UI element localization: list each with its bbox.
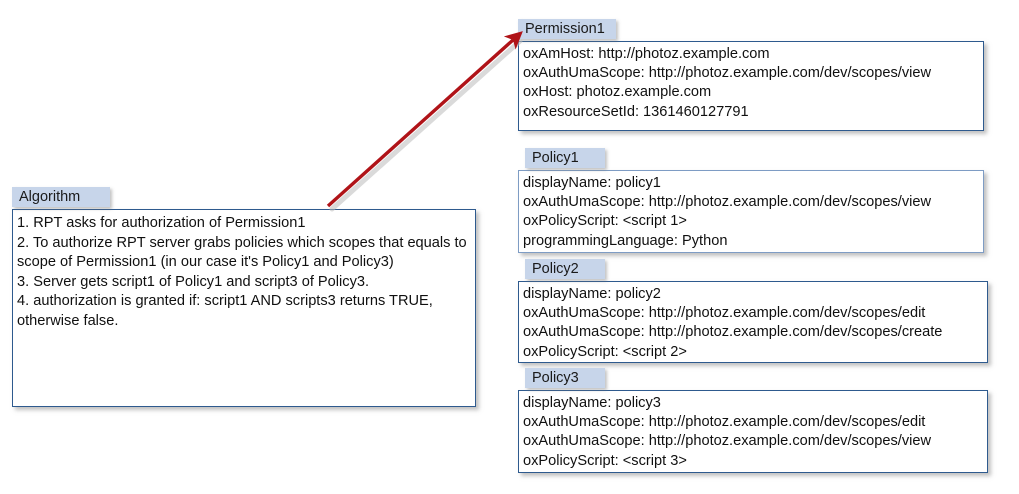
permission1-line: oxAmHost: http://photoz.example.com (523, 45, 983, 64)
policy3-line: displayName: policy3 (523, 394, 987, 413)
algorithm-body: 1. RPT asks for authorization of Permiss… (12, 209, 476, 407)
permission-arrow (328, 40, 513, 206)
permission-arrow-shadow (332, 41, 520, 209)
policy2-lines: displayName: policy2 oxAuthUmaScope: htt… (519, 282, 987, 362)
policy2-body: displayName: policy2 oxAuthUmaScope: htt… (518, 281, 988, 363)
policy3-body: displayName: policy3 oxAuthUmaScope: htt… (518, 390, 988, 473)
policy1-line: oxAuthUmaScope: http://photoz.example.co… (523, 193, 983, 212)
policy2-line: displayName: policy2 (523, 285, 987, 304)
policy1-line: displayName: policy1 (523, 174, 983, 193)
algorithm-line: 3. Server gets script1 of Policy1 and sc… (17, 273, 469, 293)
policy3-line: oxPolicyScript: <script 3> (523, 452, 987, 471)
permission1-note: Permission1 oxAmHost: http://photoz.exam… (518, 19, 984, 131)
policy2-line: oxAuthUmaScope: http://photoz.example.co… (523, 304, 987, 323)
policy3-line: oxAuthUmaScope: http://photoz.example.co… (523, 432, 987, 451)
policy1-body: displayName: policy1 oxAuthUmaScope: htt… (518, 170, 984, 253)
policy1-line: oxPolicyScript: <script 1> (523, 212, 983, 231)
policy1-tab[interactable]: Policy1 (525, 148, 605, 168)
policy2-note: Policy2 displayName: policy2 oxAuthUmaSc… (518, 259, 988, 363)
policy2-line: oxAuthUmaScope: http://photoz.example.co… (523, 323, 987, 342)
policy3-tab[interactable]: Policy3 (525, 368, 605, 388)
algorithm-line: 1. RPT asks for authorization of Permiss… (17, 214, 469, 234)
policy3-line: oxAuthUmaScope: http://photoz.example.co… (523, 413, 987, 432)
permission1-lines: oxAmHost: http://photoz.example.com oxAu… (519, 42, 983, 122)
permission1-body: oxAmHost: http://photoz.example.com oxAu… (518, 41, 984, 131)
permission1-tab[interactable]: Permission1 (518, 19, 616, 39)
diagram-canvas: Algorithm 1. RPT asks for authorization … (0, 0, 1019, 494)
permission1-line: oxResourceSetId: 1361460127791 (523, 103, 983, 122)
algorithm-lines: 1. RPT asks for authorization of Permiss… (13, 210, 475, 332)
policy3-note: Policy3 displayName: policy3 oxAuthUmaSc… (518, 368, 988, 473)
policy1-lines: displayName: policy1 oxAuthUmaScope: htt… (519, 171, 983, 251)
policy3-lines: displayName: policy3 oxAuthUmaScope: htt… (519, 391, 987, 471)
algorithm-note: Algorithm 1. RPT asks for authorization … (12, 187, 476, 409)
algorithm-tab[interactable]: Algorithm (12, 187, 110, 207)
permission1-line: oxAuthUmaScope: http://photoz.example.co… (523, 64, 983, 83)
policy1-line: programmingLanguage: Python (523, 232, 983, 251)
algorithm-line: 2. To authorize RPT server grabs policie… (17, 234, 469, 273)
permission1-line: oxHost: photoz.example.com (523, 83, 983, 102)
algorithm-line: 4. authorization is granted if: script1 … (17, 292, 469, 331)
policy1-note: Policy1 displayName: policy1 oxAuthUmaSc… (518, 148, 984, 253)
policy2-line: oxPolicyScript: <script 2> (523, 343, 987, 362)
policy2-tab[interactable]: Policy2 (525, 259, 605, 279)
